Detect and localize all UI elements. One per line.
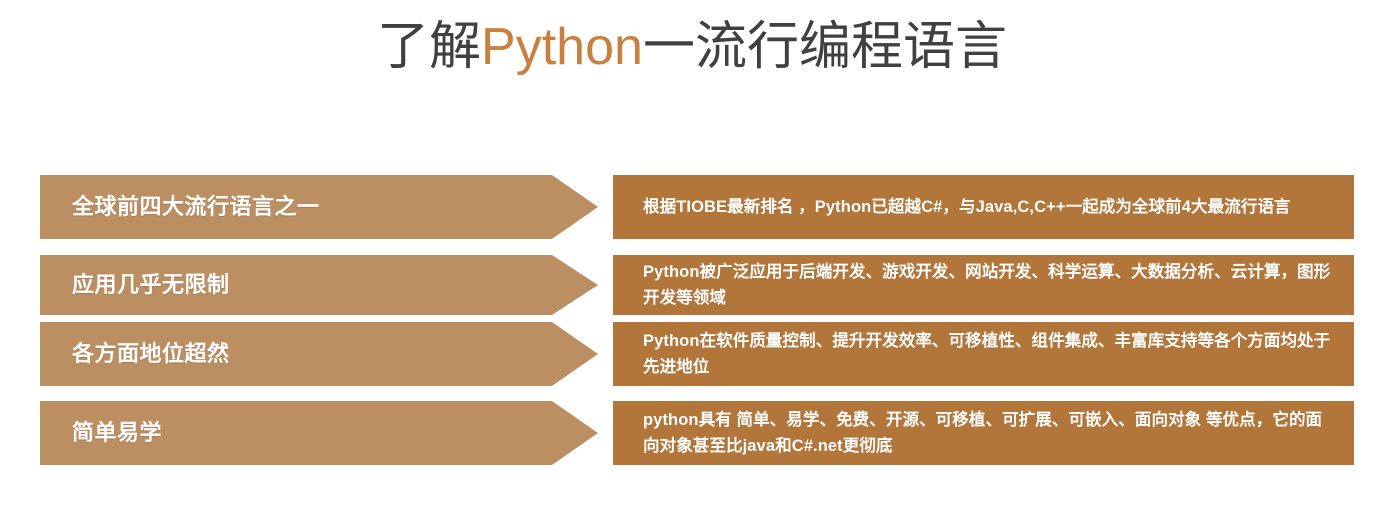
content-box-0[interactable]: 根据TIOBE最新排名 ，Python已超越C#，与Java,C,C++一起成为…: [613, 175, 1354, 239]
arrow-banner-label: 全球前四大流行语言之一: [72, 192, 320, 222]
feature-row: 各方面地位超然 Python在软件质量控制、提升开发效率、可移植性、组件集成、丰…: [0, 322, 1384, 386]
content-box-text: Python在软件质量控制、提升开发效率、可移植性、组件集成、丰富库支持等各个方…: [643, 328, 1332, 380]
arrow-banner-1[interactable]: 应用几乎无限制: [40, 255, 598, 315]
content-box-3[interactable]: python具有 简单、易学、免费、开源、可移植、可扩展、可嵌入、面向对象 等优…: [613, 401, 1354, 465]
feature-row: 简单易学 python具有 简单、易学、免费、开源、可移植、可扩展、可嵌入、面向…: [0, 401, 1384, 465]
arrow-banner-label: 各方面地位超然: [72, 339, 230, 369]
arrow-banner-label: 简单易学: [72, 418, 162, 448]
arrow-banner-3[interactable]: 简单易学: [40, 401, 598, 465]
feature-row-list: 全球前四大流行语言之一 根据TIOBE最新排名 ，Python已超越C#，与Ja…: [0, 0, 1384, 524]
content-box-2[interactable]: Python在软件质量控制、提升开发效率、可移植性、组件集成、丰富库支持等各个方…: [613, 322, 1354, 386]
arrow-banner-label: 应用几乎无限制: [72, 270, 230, 300]
content-box-1[interactable]: Python被广泛应用于后端开发、游戏开发、网站开发、科学运算、大数据分析、云计…: [613, 255, 1354, 315]
arrow-banner-2[interactable]: 各方面地位超然: [40, 322, 598, 386]
content-box-text: 根据TIOBE最新排名 ，Python已超越C#，与Java,C,C++一起成为…: [643, 194, 1291, 220]
content-box-text: python具有 简单、易学、免费、开源、可移植、可扩展、可嵌入、面向对象 等优…: [643, 407, 1332, 459]
feature-row: 全球前四大流行语言之一 根据TIOBE最新排名 ，Python已超越C#，与Ja…: [0, 175, 1384, 239]
content-box-text: Python被广泛应用于后端开发、游戏开发、网站开发、科学运算、大数据分析、云计…: [643, 259, 1332, 311]
feature-row: 应用几乎无限制 Python被广泛应用于后端开发、游戏开发、网站开发、科学运算、…: [0, 255, 1384, 315]
arrow-banner-0[interactable]: 全球前四大流行语言之一: [40, 175, 598, 239]
